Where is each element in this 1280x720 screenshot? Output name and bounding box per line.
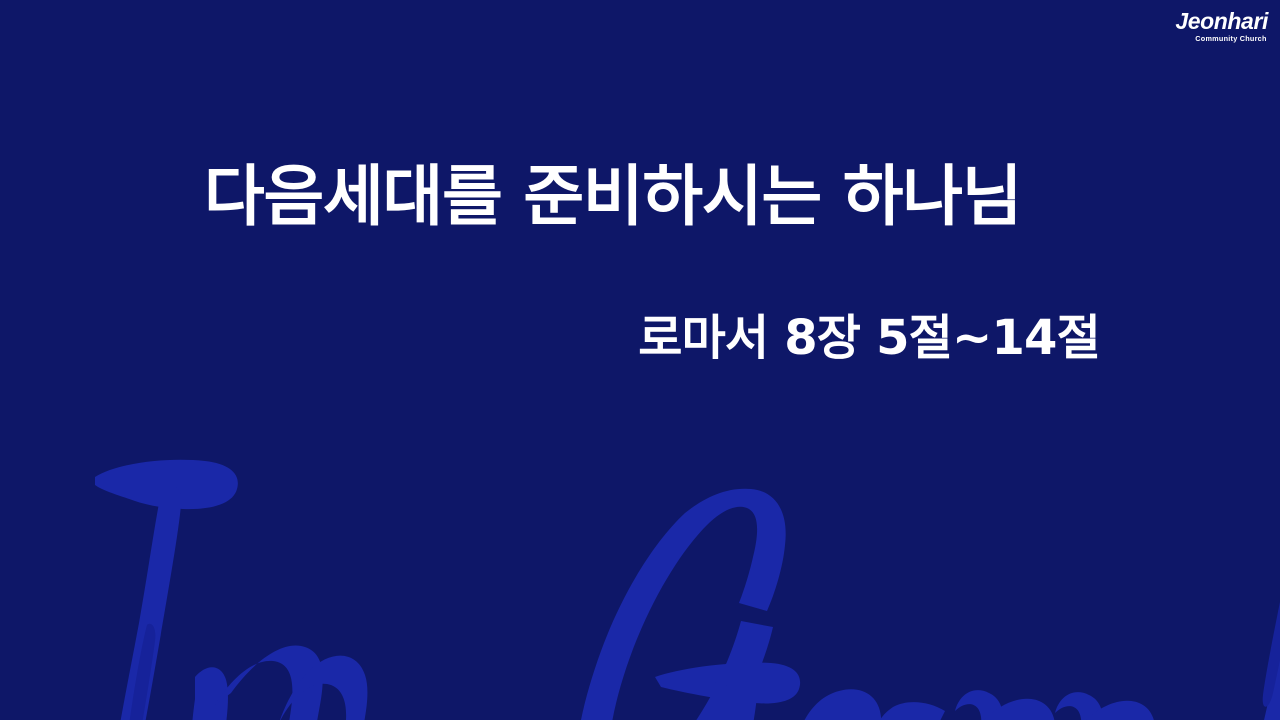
sermon-title: 다음세대를 준비하시는 하나님 [204,158,1084,236]
sermon-title-slide: In Gospel [0,0,1280,720]
slide-text-block: 다음세대를 준비하시는 하나님 로마서 8장 5절~14절 [0,0,1280,720]
scripture-reference: 로마서 8장 5절~14절 [200,310,1100,368]
